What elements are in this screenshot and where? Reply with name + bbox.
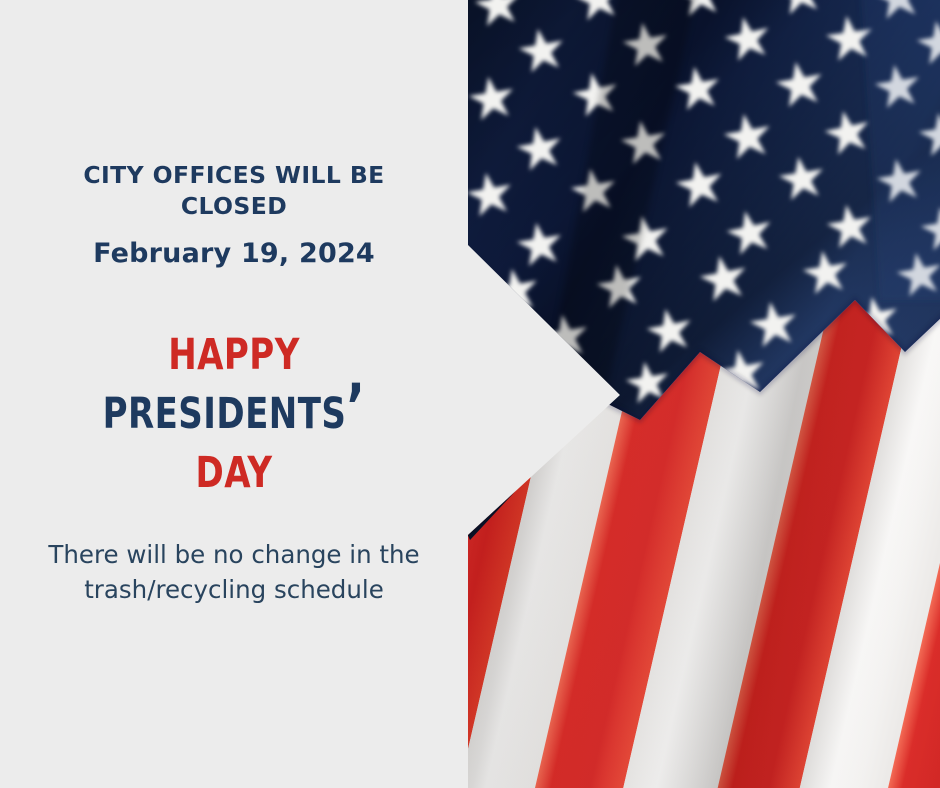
presidents-day-poster: CITY OFFICES WILL BE CLOSED February 19,… bbox=[0, 0, 940, 788]
headline-block: Happy Presidents’ Day bbox=[26, 318, 442, 496]
message-column: CITY OFFICES WILL BE CLOSED February 19,… bbox=[0, 0, 468, 788]
closure-announcement: CITY OFFICES WILL BE CLOSED February 19,… bbox=[26, 160, 442, 271]
trash-schedule-note: There will be no change in the trash/rec… bbox=[20, 538, 448, 608]
headline-line-day: Day bbox=[51, 436, 417, 497]
closure-date: February 19, 2024 bbox=[26, 236, 442, 271]
subnote-line-2: trash/recycling schedule bbox=[84, 575, 384, 604]
closure-line-2: CLOSED bbox=[26, 191, 442, 222]
subnote-line-1: There will be no change in the bbox=[48, 540, 419, 569]
closure-line-1: CITY OFFICES WILL BE bbox=[26, 160, 442, 191]
